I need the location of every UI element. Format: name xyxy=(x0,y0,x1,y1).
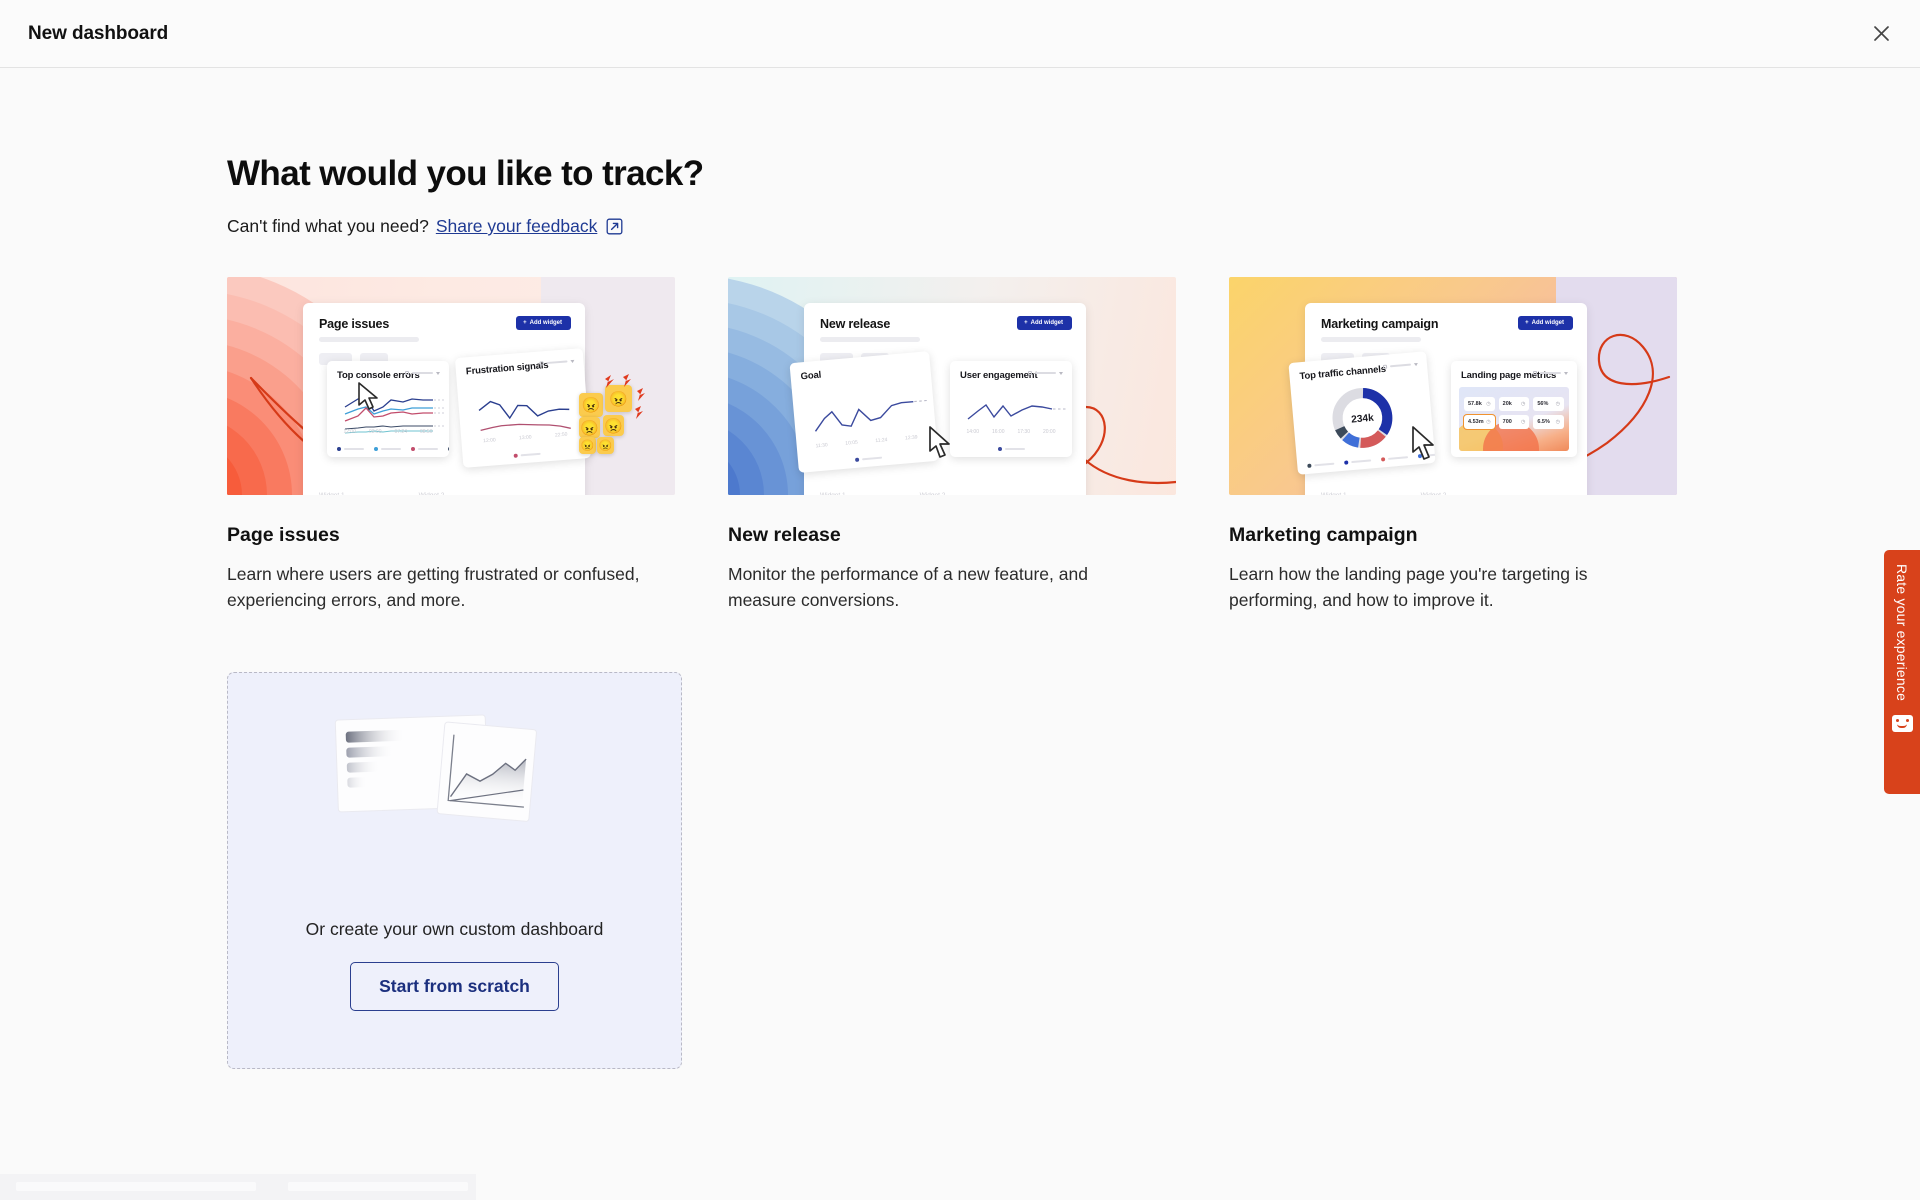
legend-item xyxy=(854,456,881,462)
legend-item xyxy=(513,452,540,458)
card-description-new-release: Monitor the performance of a new feature… xyxy=(728,561,1148,614)
legend-item xyxy=(374,447,401,451)
mouse-cursor-icon xyxy=(924,425,956,465)
mouse-cursor-icon xyxy=(1407,425,1439,467)
metric-tile-grid: 57.8k◷ 20k◷ 56%◷ 4.53m◷ 700◷ 6.5%◷ xyxy=(1459,387,1569,451)
add-widget-label: Add widget xyxy=(1532,320,1564,326)
mini-dashboard-subtitle-placeholder xyxy=(820,337,920,342)
legend-item xyxy=(337,447,364,451)
card-title-page-issues: Page issues xyxy=(227,524,675,547)
template-card-page-issues[interactable]: Page issues + Add widget Widget 1 Wi xyxy=(227,277,675,614)
legend-item xyxy=(1344,458,1371,464)
widget-placeholder-label: Widget 2 xyxy=(920,492,946,495)
widget-legend xyxy=(337,447,439,451)
plus-icon: + xyxy=(523,320,527,326)
x-tick: 03:00 xyxy=(369,429,382,435)
widget-x-axis: 14:00 16:00 17:30 20:00 xyxy=(960,429,1062,435)
widget-legend xyxy=(473,449,581,461)
content-column: What would you like to track? Can't find… xyxy=(0,68,1920,1069)
x-tick: 10:05 xyxy=(845,440,858,447)
dashboard-papers-illustration xyxy=(330,713,580,903)
bottom-strip-segment xyxy=(16,1182,256,1191)
widget-placeholder-label: Widget 2 xyxy=(419,492,445,495)
legend-item xyxy=(1381,455,1408,461)
x-tick: 20:00 xyxy=(1043,429,1056,435)
widget-placeholder-labels: Widget 1 Widget 2 xyxy=(1305,492,1587,495)
metric-tile-icon: ◷ xyxy=(1521,419,1525,425)
x-tick: 11:24 xyxy=(875,437,888,444)
x-tick: 07:24 xyxy=(394,429,407,435)
anger-marks-icon xyxy=(593,373,653,423)
metric-tile-icon: ◷ xyxy=(1521,401,1525,407)
widget-legend xyxy=(960,447,1062,451)
x-tick: 16:00 xyxy=(992,429,1005,435)
headline: What would you like to track? xyxy=(227,154,1920,194)
metric-tile-icon: ◷ xyxy=(1486,419,1490,425)
subline: Can't find what you need? Share your fee… xyxy=(227,216,1920,237)
x-tick: 22:50 xyxy=(555,432,568,439)
close-icon[interactable] xyxy=(1864,17,1898,51)
widget-top-console-errors: Top console errors xyxy=(327,361,449,457)
add-widget-button: + Add widget xyxy=(516,316,571,330)
custom-dashboard-card[interactable]: Or create your own custom dashboard Star… xyxy=(227,672,682,1069)
card-description-marketing-campaign: Learn how the landing page you're target… xyxy=(1229,561,1649,614)
widget-placeholder-label: Widget 1 xyxy=(820,492,846,495)
template-card-list: Page issues + Add widget Widget 1 Wi xyxy=(227,277,1920,614)
metric-tile-icon: ◷ xyxy=(1486,401,1490,407)
widget-user-engagement: User engagement 14:00 16:00 17:30 20:00 xyxy=(950,361,1072,457)
widget-frustration-signals: Frustration signals 12:00 13:00 22:50 xyxy=(455,348,591,468)
custom-dashboard-caption: Or create your own custom dashboard xyxy=(306,919,604,940)
widget-x-axis: 12:00 03:00 07:24 08:50 xyxy=(337,429,439,435)
widget-menu xyxy=(1533,371,1568,375)
x-tick: 13:00 xyxy=(519,434,532,441)
metric-tile-icon: ◷ xyxy=(1556,419,1560,425)
add-widget-button: + Add widget xyxy=(1518,316,1573,330)
share-feedback-link[interactable]: Share your feedback xyxy=(436,216,598,237)
card-title-new-release: New release xyxy=(728,524,1176,547)
widget-placeholder-labels: Widget 1 Widget 2 xyxy=(804,492,1086,495)
widget-title: Goal xyxy=(800,361,921,382)
x-tick: 12:39 xyxy=(905,434,918,441)
widget-menu xyxy=(1028,371,1063,375)
add-widget-label: Add widget xyxy=(1031,320,1063,326)
rate-experience-tab[interactable]: Rate your experience xyxy=(1884,550,1920,794)
x-tick: 08:50 xyxy=(420,429,433,435)
x-tick: 14:00 xyxy=(966,429,979,435)
card-thumbnail-page-issues[interactable]: Page issues + Add widget Widget 1 Wi xyxy=(227,277,675,495)
widget-goal: Goal 11:30 10:05 11:24 12:39 xyxy=(789,351,938,473)
card-title-marketing-campaign: Marketing campaign xyxy=(1229,524,1677,547)
metric-tile-icon: ◷ xyxy=(1556,401,1560,407)
plus-icon: + xyxy=(1525,320,1529,326)
metric-tile: 56%◷ xyxy=(1533,397,1564,411)
add-widget-label: Add widget xyxy=(530,320,562,326)
metric-tile: 20k◷ xyxy=(1499,397,1530,411)
template-card-marketing-campaign[interactable]: Marketing campaign + Add widget Widget 1 xyxy=(1229,277,1677,614)
subline-question: Can't find what you need? xyxy=(227,216,429,237)
metric-tile: 57.8k◷ xyxy=(1464,397,1495,411)
angry-face-sticker: 😠 xyxy=(597,437,614,454)
add-widget-button: + Add widget xyxy=(1017,316,1072,330)
card-description-page-issues: Learn where users are getting frustrated… xyxy=(227,561,647,614)
mouse-cursor-icon xyxy=(355,381,385,415)
legend-item xyxy=(1307,462,1334,468)
external-link-icon[interactable] xyxy=(606,218,623,235)
legend-item xyxy=(411,447,438,451)
donut-chart-top-traffic-channels: 234k xyxy=(1322,380,1404,456)
widget-landing-page-metrics: Landing page metrics 57.8k◷ 20k◷ 56%◷ 4.… xyxy=(1451,361,1577,457)
legend-item xyxy=(448,447,449,451)
x-tick: 12:00 xyxy=(483,437,496,444)
mini-dashboard-subtitle-placeholder xyxy=(1321,337,1421,342)
page-body: What would you like to track? Can't find… xyxy=(0,68,1920,1200)
page-title: New dashboard xyxy=(28,23,168,45)
mini-dashboard-subtitle-placeholder xyxy=(319,337,419,342)
bottom-strip-segment xyxy=(288,1182,468,1191)
card-thumbnail-marketing-campaign[interactable]: Marketing campaign + Add widget Widget 1 xyxy=(1229,277,1677,495)
legend-item xyxy=(998,447,1025,451)
widget-placeholder-label: Widget 2 xyxy=(1421,492,1447,495)
widget-placeholder-label: Widget 1 xyxy=(1321,492,1347,495)
plus-icon: + xyxy=(1024,320,1028,326)
top-bar: New dashboard xyxy=(0,0,1920,68)
widget-placeholder-label: Widget 1 xyxy=(319,492,345,495)
start-from-scratch-button[interactable]: Start from scratch xyxy=(350,962,559,1011)
widget-placeholder-labels: Widget 1 Widget 2 xyxy=(303,492,585,495)
smiley-face-icon xyxy=(1892,715,1913,732)
metric-tile: 6.5%◷ xyxy=(1533,415,1564,429)
rate-experience-label: Rate your experience xyxy=(1894,564,1910,701)
metric-tile: 4.53m◷ xyxy=(1464,415,1495,429)
template-card-new-release[interactable]: New release + Add widget Widget 1 Wi xyxy=(728,277,1176,614)
card-thumbnail-new-release[interactable]: New release + Add widget Widget 1 Wi xyxy=(728,277,1176,495)
bottom-strip xyxy=(0,1174,476,1200)
x-tick: 17:30 xyxy=(1017,429,1030,435)
metric-tile: 700◷ xyxy=(1499,415,1530,429)
smiley-mouth xyxy=(1897,724,1907,728)
widget-menu xyxy=(405,371,440,375)
x-tick: 12:00 xyxy=(343,429,356,435)
donut-center-value: 234k xyxy=(1351,413,1375,426)
angry-face-sticker: 😠 xyxy=(579,437,596,454)
x-tick: 11:30 xyxy=(815,442,828,449)
